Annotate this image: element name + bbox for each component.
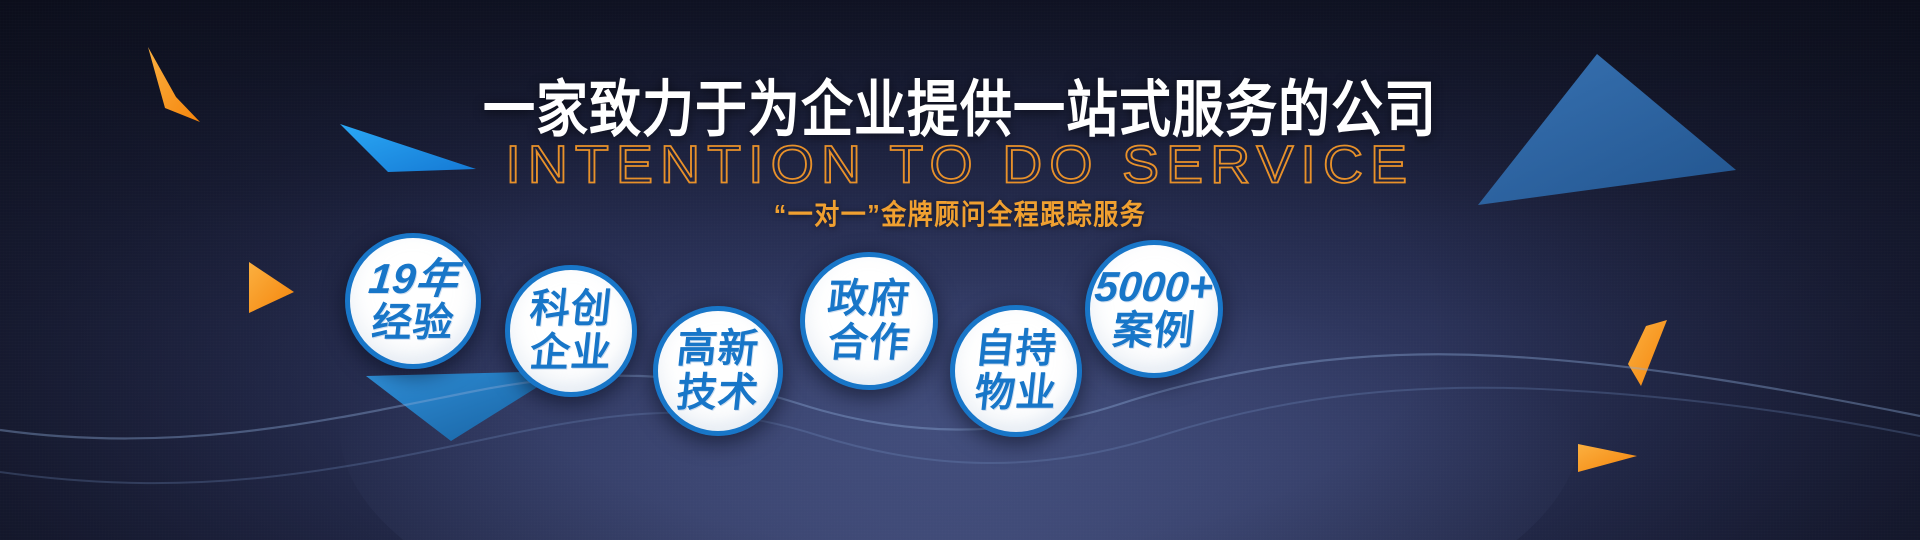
badge-circle-gov-cooperation[interactable]: 政府合作 <box>800 252 938 390</box>
badge-line1: 自持 <box>973 327 1060 371</box>
orange-sliver-top-left-icon <box>148 47 200 122</box>
badge-circle-case-count[interactable]: 5000+案例 <box>1085 240 1223 378</box>
orange-triangle-left-mid-icon <box>249 262 294 313</box>
blue-arrow-left-icon <box>340 124 476 172</box>
decorative-shapes-layer <box>0 0 1920 540</box>
badge-circle-high-tech[interactable]: 高新技术 <box>653 306 783 436</box>
orange-sliver-right-icon <box>1628 320 1667 386</box>
badge-line1: 科创 <box>528 287 615 331</box>
badge-line2: 案例 <box>1111 309 1198 353</box>
badge-circle-owned-property[interactable]: 自持物业 <box>950 305 1082 437</box>
badge-line2: 合作 <box>826 321 913 365</box>
badge-line1: 19年 <box>366 257 459 301</box>
badge-line2: 企业 <box>528 331 615 375</box>
blue-triangle-right-icon <box>1478 54 1736 205</box>
orange-triangle-right-low-icon <box>1578 444 1637 472</box>
badge-circle-years-experience[interactable]: 19年经验 <box>345 233 481 369</box>
badge-line1: 5000+ <box>1093 265 1216 309</box>
badge-line2: 物业 <box>973 371 1060 415</box>
badge-line1: 高新 <box>675 327 762 371</box>
badge-circle-tech-startup[interactable]: 科创企业 <box>505 265 637 397</box>
hero-banner: 一家致力于为企业提供一站式服务的公司 INTENTION TO DO SERVI… <box>0 0 1920 540</box>
badge-line2: 经验 <box>370 301 457 345</box>
badge-line2: 技术 <box>675 371 762 415</box>
badge-line1: 政府 <box>826 277 913 321</box>
